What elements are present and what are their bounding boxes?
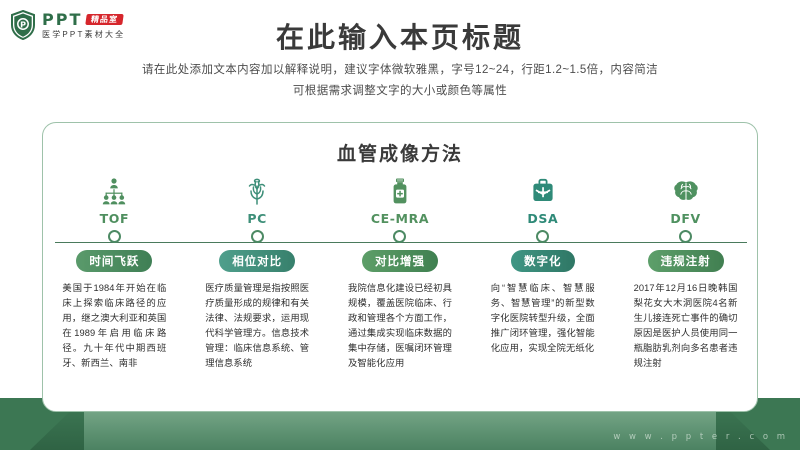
footer-ribbon-inner — [42, 408, 758, 450]
card-title: 血管成像方法 — [43, 139, 757, 166]
timeline-columns: TOF 时间飞跃 美国于1984年开始在临床上探索临床路径的应用，继之澳大利亚和… — [43, 171, 757, 411]
timeline-item-pc[interactable]: PC 相位对比 医疗质量管理是指按照医疗质量形成的规律和有关法律、法规要求，运用… — [186, 171, 329, 411]
timeline-body: 向“智慧临床、智慧服务、智慧管理”的新型数字化医院转型升级，全面推广闭环管理，强… — [491, 281, 595, 356]
timeline-badge: 时间飞跃 — [76, 250, 152, 272]
page-subtitle-line-1: 请在此处添加文本内容加以解释说明，建议字体微软雅黑，字号12~24，行距1.2~… — [100, 60, 700, 81]
timeline-node — [251, 230, 264, 243]
timeline-item-tof[interactable]: TOF 时间飞跃 美国于1984年开始在临床上探索临床路径的应用，继之澳大利亚和… — [43, 171, 186, 411]
timeline-code: DSA — [527, 211, 558, 226]
page-subtitle-line-2: 可根据需求调整文字的大小或颜色等属性 — [100, 81, 700, 102]
timeline-node — [393, 230, 406, 243]
org-people-icon — [99, 173, 129, 207]
site-watermark: w w w . p p t e r . c o m — [613, 432, 788, 442]
timeline-code: CE-MRA — [371, 211, 429, 226]
brain-icon — [671, 173, 701, 207]
timeline-node — [679, 230, 692, 243]
page-title: 在此输入本页标题 — [0, 16, 800, 56]
timeline-body: 2017年12月16日晚韩国梨花女大木洞医院4名新生儿接连死亡事件的确切原因是医… — [634, 281, 738, 371]
timeline-item-dfv[interactable]: DFV 违规注射 2017年12月16日晚韩国梨花女大木洞医院4名新生儿接连死亡… — [614, 171, 757, 411]
content-card: 血管成像方法 — [42, 122, 758, 412]
timeline-badge: 违规注射 — [648, 250, 724, 272]
medicine-bottle-icon — [385, 173, 415, 207]
timeline-body: 医疗质量管理是指按照医疗质量形成的规律和有关法律、法规要求，运用现代科学管理方。… — [205, 281, 309, 371]
timeline-body: 我院信息化建设已经初具规模，覆盖医院临床、行政和管理各个方面工作，通过集成实现临… — [348, 281, 452, 371]
page-subtitle: 请在此处添加文本内容加以解释说明，建议字体微软雅黑，字号12~24，行距1.2~… — [100, 60, 700, 103]
timeline-badge: 对比增强 — [362, 250, 438, 272]
timeline-code: DFV — [670, 211, 700, 226]
timeline-item-ce-mra[interactable]: CE-MRA 对比增强 我院信息化建设已经初具规模，覆盖医院临床、行政和管理各个… — [329, 171, 472, 411]
brain-tree-icon — [242, 173, 272, 207]
timeline-badge: 相位对比 — [219, 250, 295, 272]
medical-bag-icon — [528, 173, 558, 207]
timeline-item-dsa[interactable]: DSA 数字化 向“智慧临床、智慧服务、智慧管理”的新型数字化医院转型升级，全面… — [471, 171, 614, 411]
timeline-node — [536, 230, 549, 243]
timeline-code: TOF — [100, 211, 130, 226]
timeline-badge: 数字化 — [511, 250, 575, 272]
timeline-code: PC — [247, 211, 267, 226]
timeline-node — [108, 230, 121, 243]
timeline-body: 美国于1984年开始在临床上探索临床路径的应用，继之澳大利亚和英国在1989年启… — [62, 281, 166, 371]
